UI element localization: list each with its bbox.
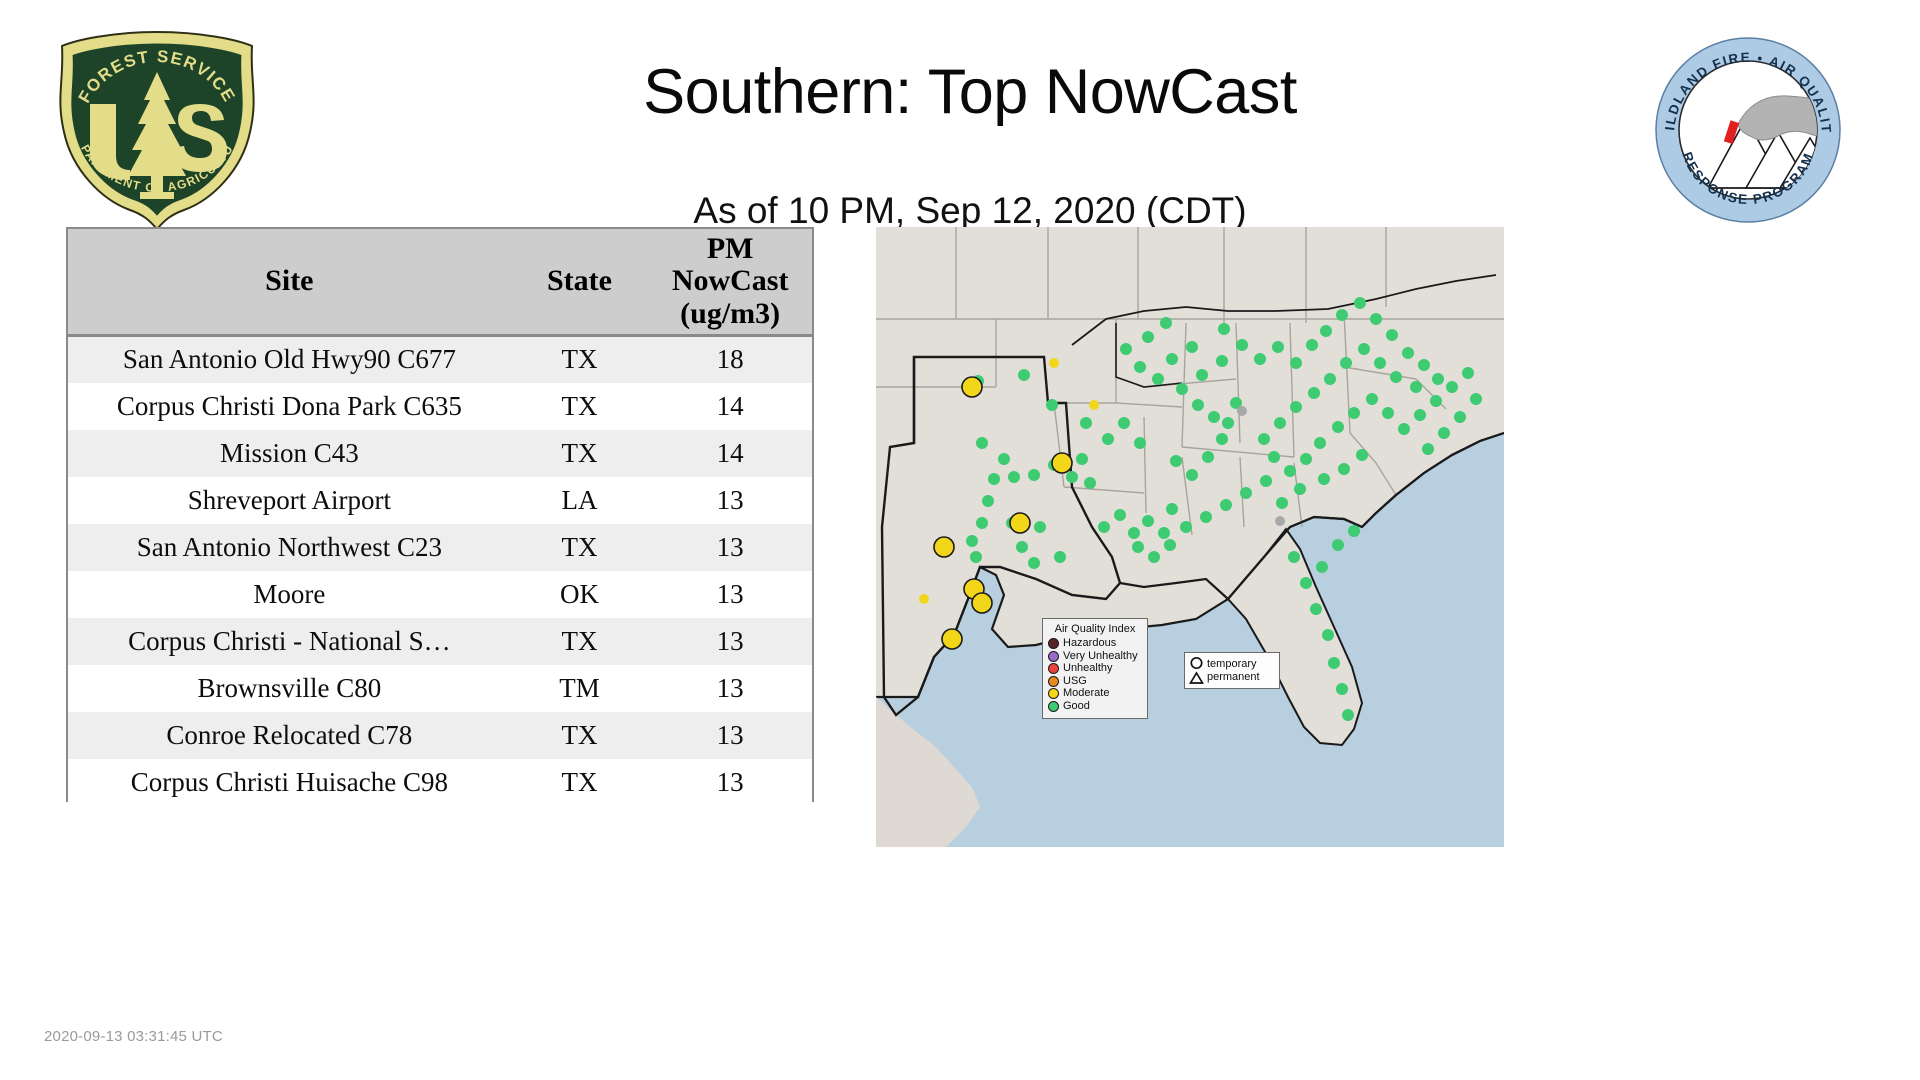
aqi-legend-row: USG — [1048, 676, 1142, 688]
slide-root: FOREST SERVICE DEPARTMENT OF AGRICULTURE — [0, 0, 1920, 1080]
column-header-state: State — [511, 229, 649, 336]
pm-header-line-2: NowCast — [650, 265, 810, 297]
table-row[interactable]: Corpus Christi Dona Park C635TX14 — [68, 383, 812, 430]
cell-site: Corpus Christi Huisache C98 — [68, 759, 511, 806]
monitor-type-labels: temporary permanent — [1207, 658, 1260, 683]
aqi-swatch-icon — [1048, 651, 1059, 662]
footer-timestamp: 2020-09-13 03:31:45 UTC — [44, 1028, 223, 1045]
cell-pm-nowcast: 13 — [648, 618, 812, 665]
legend-label-permanent: permanent — [1207, 671, 1260, 684]
aqi-legend-items: HazardousVery UnhealthyUnhealthyUSGModer… — [1048, 638, 1142, 712]
monitor-type-legend: temporary permanent — [1184, 652, 1280, 689]
aqi-legend-label: USG — [1063, 676, 1087, 688]
cell-pm-nowcast: 18 — [648, 336, 812, 383]
table-row[interactable]: Corpus Christi - National S…TX13 — [68, 618, 812, 665]
aqi-legend-row: Very Unhealthy — [1048, 651, 1142, 663]
cell-site: Mission C43 — [68, 430, 511, 477]
table-row[interactable]: Shreveport AirportLA13 — [68, 477, 812, 524]
aqi-legend-title: Air Quality Index — [1048, 623, 1142, 635]
table-row[interactable]: Conroe Relocated C78TX13 — [68, 712, 812, 759]
cell-site: San Antonio Northwest C23 — [68, 524, 511, 571]
table-header-row: Site State PM NowCast (ug/m3) — [68, 229, 812, 336]
cell-pm-nowcast: 13 — [648, 524, 812, 571]
cell-state: TX — [511, 712, 649, 759]
column-header-site: Site — [68, 229, 511, 336]
wildland-fire-air-quality-logo: WILDLAND FIRE • AIR QUALITY RESPONSE PRO… — [1650, 32, 1846, 228]
cell-pm-nowcast: 13 — [648, 477, 812, 524]
cell-state: LA — [511, 477, 649, 524]
nowcast-table-container: Site State PM NowCast (ug/m3) San Antoni… — [66, 227, 814, 802]
map-graphic — [876, 227, 1504, 847]
cell-state: TX — [511, 430, 649, 477]
table-row[interactable]: Mission C43TX14 — [68, 430, 812, 477]
aqi-legend-label: Very Unhealthy — [1063, 651, 1138, 663]
aqi-legend-label: Moderate — [1063, 688, 1109, 700]
aqi-swatch-icon — [1048, 688, 1059, 699]
column-header-pm-nowcast: PM NowCast (ug/m3) — [648, 229, 812, 336]
cell-site: Shreveport Airport — [68, 477, 511, 524]
cell-site: Brownsville C80 — [68, 665, 511, 712]
cell-site: Conroe Relocated C78 — [68, 712, 511, 759]
table-row[interactable]: Brownsville C80TM13 — [68, 665, 812, 712]
monitor-type-symbols — [1189, 656, 1204, 685]
letter-u-serif — [90, 104, 116, 110]
aqi-legend-label: Hazardous — [1063, 638, 1116, 650]
table-row[interactable]: San Antonio Old Hwy90 C677TX18 — [68, 336, 812, 383]
cell-pm-nowcast: 13 — [648, 759, 812, 806]
cell-pm-nowcast: 13 — [648, 712, 812, 759]
aqi-legend: Air Quality Index HazardousVery Unhealth… — [1042, 618, 1148, 719]
cell-state: TX — [511, 383, 649, 430]
aqi-legend-row: Good — [1048, 701, 1142, 713]
table-row[interactable]: MooreOK13 — [68, 571, 812, 618]
aqi-swatch-icon — [1048, 676, 1059, 687]
temporary-circle-icon — [1189, 656, 1204, 670]
legend-label-temporary: temporary — [1207, 658, 1260, 671]
pm-header-line-1: PM — [650, 233, 810, 265]
aqi-swatch-icon — [1048, 638, 1059, 649]
permanent-triangle-icon — [1189, 671, 1204, 685]
aqi-legend-row: Unhealthy — [1048, 663, 1142, 675]
cell-pm-nowcast: 13 — [648, 665, 812, 712]
aqi-legend-row: Moderate — [1048, 688, 1142, 700]
cell-pm-nowcast: 14 — [648, 430, 812, 477]
nowcast-table: Site State PM NowCast (ug/m3) San Antoni… — [68, 229, 812, 806]
aqi-legend-label: Good — [1063, 701, 1090, 713]
page-title: Southern: Top NowCast — [300, 58, 1640, 126]
usfs-forest-service-logo: FOREST SERVICE DEPARTMENT OF AGRICULTURE — [52, 28, 262, 233]
cell-state: TX — [511, 759, 649, 806]
aqi-legend-label: Unhealthy — [1063, 663, 1113, 675]
cell-pm-nowcast: 13 — [648, 571, 812, 618]
table-header: Site State PM NowCast (ug/m3) — [68, 229, 812, 336]
pm-header-line-3: (ug/m3) — [650, 298, 810, 330]
table-body: San Antonio Old Hwy90 C677TX18Corpus Chr… — [68, 336, 812, 806]
cell-state: TM — [511, 665, 649, 712]
cell-state: TX — [511, 524, 649, 571]
cell-state: OK — [511, 571, 649, 618]
table-row[interactable]: San Antonio Northwest C23TX13 — [68, 524, 812, 571]
cell-site: Corpus Christi - National S… — [68, 618, 511, 665]
cell-site: San Antonio Old Hwy90 C677 — [68, 336, 511, 383]
cell-state: TX — [511, 336, 649, 383]
cell-site: Corpus Christi Dona Park C635 — [68, 383, 511, 430]
aqi-swatch-icon — [1048, 663, 1059, 674]
cell-site: Moore — [68, 571, 511, 618]
cell-state: TX — [511, 618, 649, 665]
page-subtitle: As of 10 PM, Sep 12, 2020 (CDT) — [300, 190, 1640, 232]
cell-pm-nowcast: 14 — [648, 383, 812, 430]
table-row[interactable]: Corpus Christi Huisache C98TX13 — [68, 759, 812, 806]
aqi-swatch-icon — [1048, 701, 1059, 712]
air-quality-map[interactable]: Air Quality Index HazardousVery Unhealth… — [876, 227, 1504, 847]
aqi-legend-row: Hazardous — [1048, 638, 1142, 650]
